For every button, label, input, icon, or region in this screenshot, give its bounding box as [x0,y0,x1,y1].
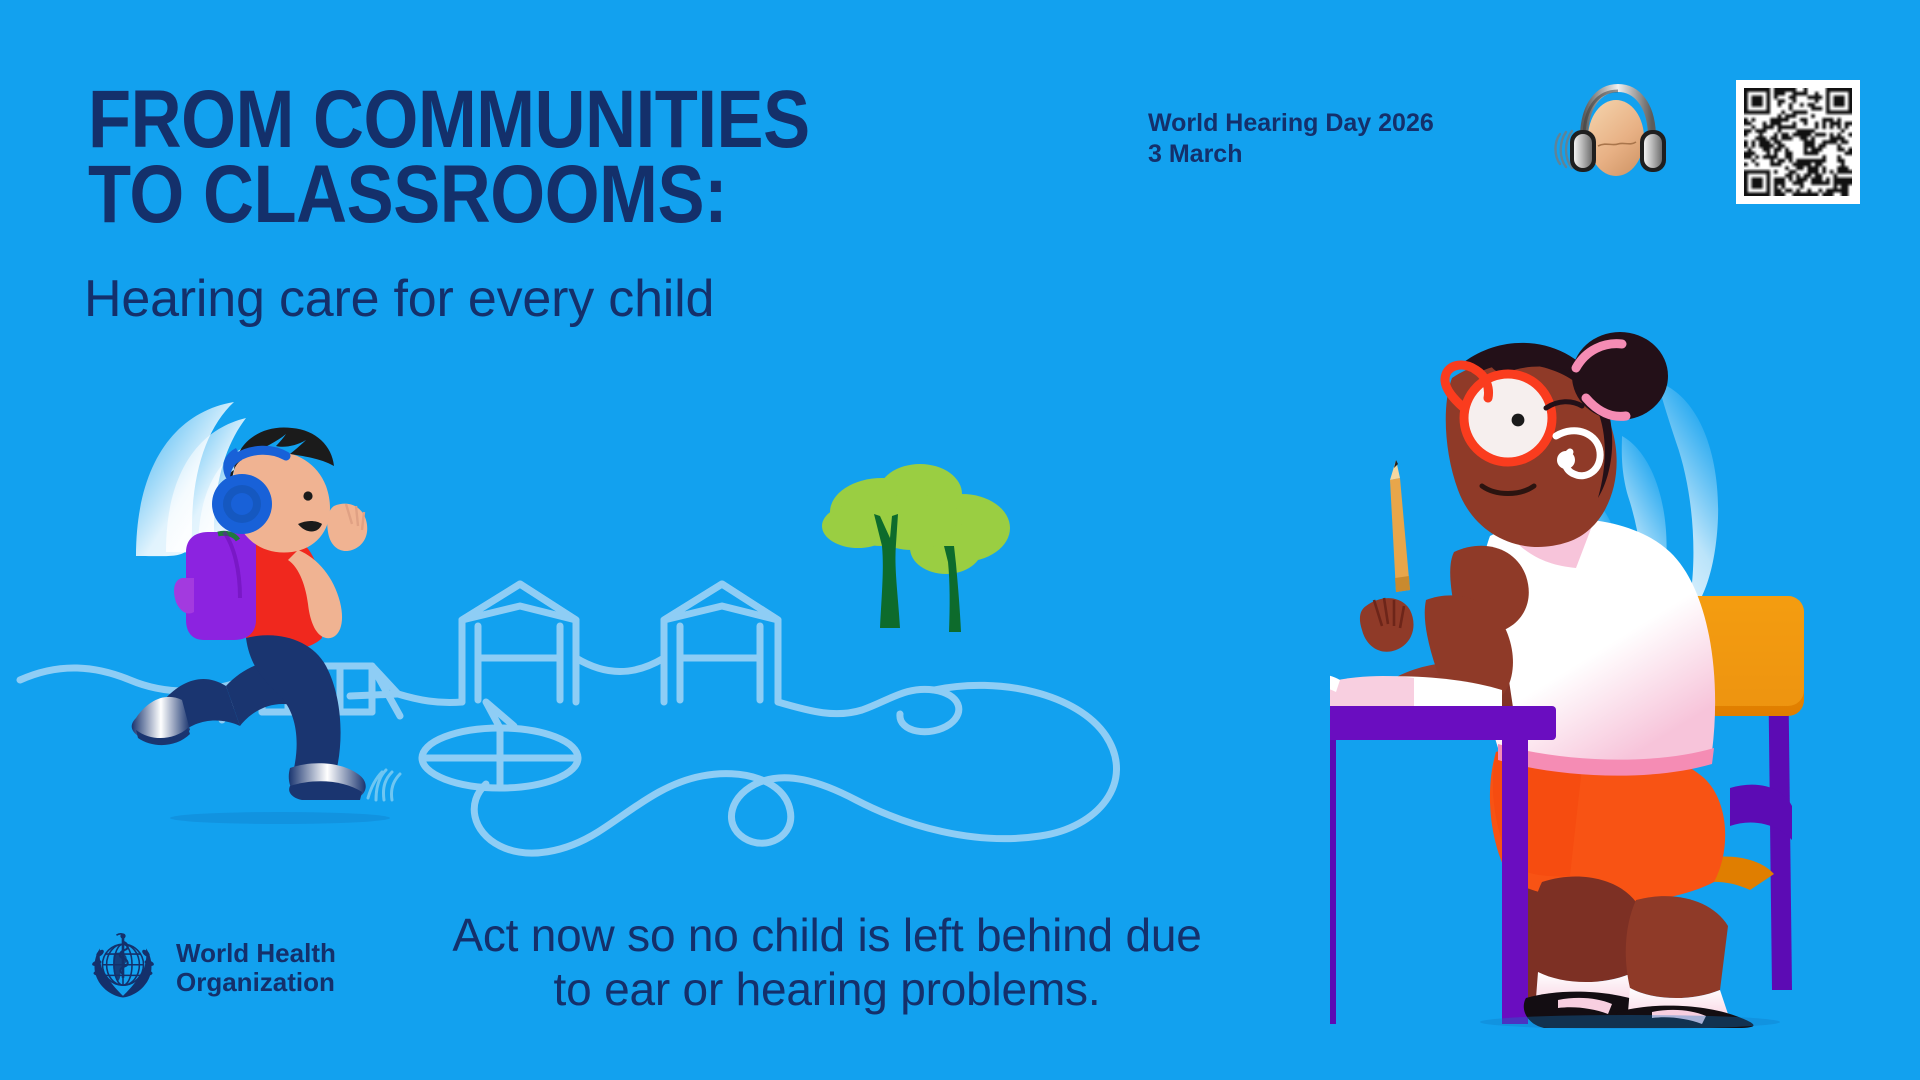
trees [820,460,1020,640]
page-subtitle: Hearing care for every child [84,272,714,327]
who-logo: World Health Organization [82,912,352,1024]
running-boy-with-headphones [130,400,460,830]
qr-code-image [1744,88,1852,196]
ear-with-headphones-logo [1540,72,1680,184]
who-emblem [82,927,164,1009]
page-title: FROM COMMUNITIES TO CLASSROOMS: [88,82,810,233]
girl-at-desk-with-hearing-aid [1330,300,1890,1030]
who-logo-text: World Health Organization [176,939,336,997]
qr-code[interactable] [1736,80,1860,204]
call-to-action-text: Act now so no child is left behind due t… [437,908,1217,1017]
campaign-date: World Hearing Day 2026 3 March [1148,108,1434,169]
poster-canvas: FROM COMMUNITIES TO CLASSROOMS: Hearing … [0,0,1920,1080]
